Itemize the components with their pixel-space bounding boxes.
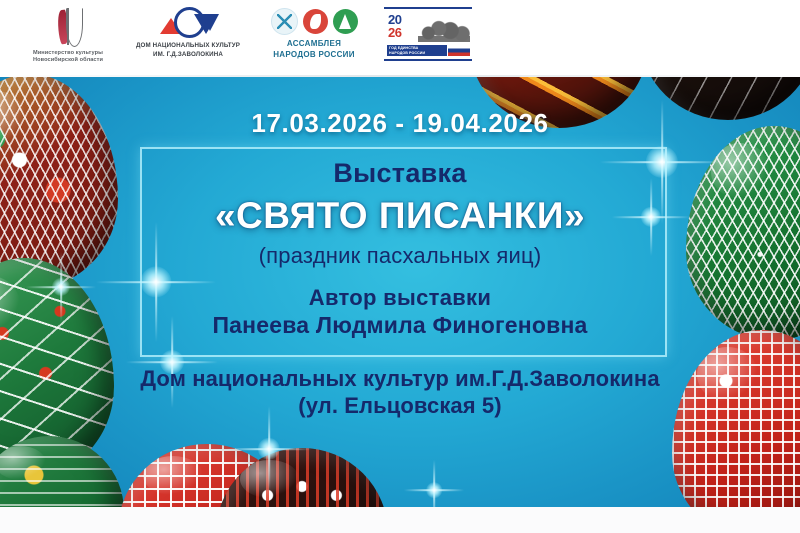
firebird-circle-icon [303,9,328,34]
egg-right-red [672,330,800,533]
logo-assembly-of-peoples: АССАМБЛЕЯ НАРОДОВ РОССИИ [262,8,366,60]
logo-ministry-of-culture: Министерство культуры Новосибирской обла… [14,8,122,65]
exhibition-dates: 17.03.2026 - 19.04.2026 [0,108,800,139]
monument-silhouette-icon: 20 26 ГОД ЕДИНСТВА НАРОДОВ РОССИИ [384,7,472,61]
monument-shape-icon [418,12,470,42]
logo-bar: Министерство культуры Новосибирской обла… [0,0,800,77]
author-name: Панеева Людмила Финогеновна [0,312,800,339]
footer-bar [0,507,800,533]
egg-highlight [143,456,204,495]
logo-caption-line2: Новосибирской области [33,57,103,64]
exhibition-subtitle: (праздник пасхальных яиц) [0,243,800,269]
egg-highlight [240,460,298,498]
poster: 17.03.2026 - 19.04.2026 Выставка «СВЯТО … [0,0,800,533]
year-bottom: 26 [388,27,401,39]
venue-name: Дом национальных культур им.Г.Д.Заволоки… [0,366,800,392]
logo-caption: ГОД ЕДИНСТВА НАРОДОВ РОССИИ [387,45,447,56]
logo-caption-line1: АССАМБЛЕЯ [273,39,355,50]
logo-caption-line2: ИМ. Г.Д.ЗАВОЛОКИНА [136,51,240,60]
exhibition-kicker: Выставка [0,158,800,189]
dnk-mark-icon [156,6,220,38]
page-title: «СВЯТО ПИСАНКИ» [0,195,800,237]
flag-stripes-icon [448,45,470,56]
logo-caption: ДОМ НАЦИОНАЛЬНЫХ КУЛЬТУР ИМ. Г.Д.ЗАВОЛОК… [136,42,240,59]
venue-address: (ул. Ельцовская 5) [0,393,800,419]
logo-caption: Министерство культуры Новосибирской обла… [33,50,103,65]
logo-caption-line2: НАРОДОВ РОССИИ [273,50,355,61]
logo-caption: АССАМБЛЕЯ НАРОДОВ РОССИИ [273,39,355,60]
logo-caption-line1: ДОМ НАЦИОНАЛЬНЫХ КУЛЬТУР [136,42,240,51]
ornament-circle-icon [271,8,298,35]
egg-highlight [0,446,46,480]
assembly-circles-icon [271,8,358,35]
author-label: Автор выставки [0,285,800,311]
logo-caption-line2: НАРОДОВ РОССИИ [387,51,447,57]
logo-house-of-national-cultures: ДОМ НАЦИОНАЛЬНЫХ КУЛЬТУР ИМ. Г.Д.ЗАВОЛОК… [128,6,248,59]
logo-year-2026: 20 26 ГОД ЕДИНСТВА НАРОДОВ РОССИИ [382,7,474,61]
flame-mark-icon [51,8,85,46]
tree-circle-icon [333,9,358,34]
